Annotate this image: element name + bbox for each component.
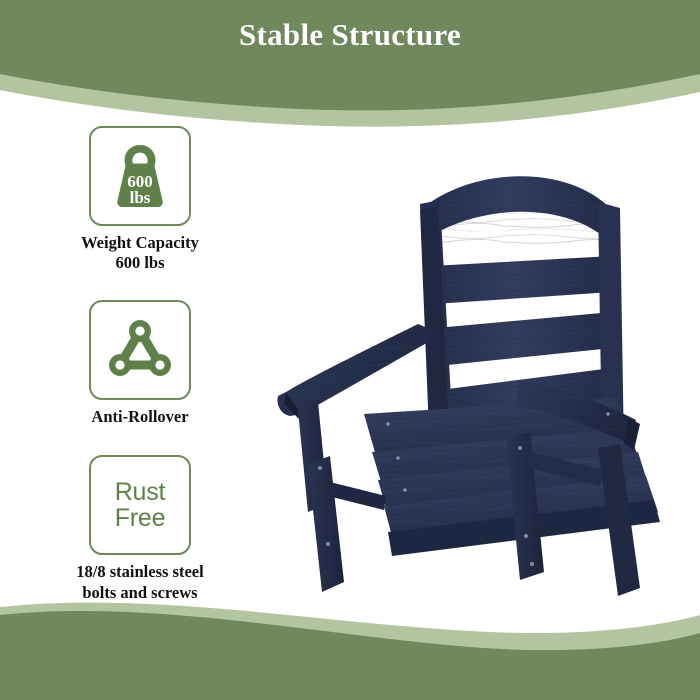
anti-rollover-triangle-icon: [104, 317, 176, 383]
weight-capacity-icon-box: 600 lbs: [89, 126, 191, 226]
feature-caption-weight-capacity: Weight Capacity 600 lbs: [81, 233, 199, 274]
node-right-hole: [155, 360, 164, 369]
weight-icon: 600 lbs: [104, 143, 176, 209]
node-top-hole: [135, 326, 144, 335]
rust-free-icon-box: Rust Free: [89, 455, 191, 555]
feature-item-weight-capacity: 600 lbs Weight Capacity 600 lbs: [18, 126, 262, 274]
feature-caption-anti-rollover: Anti-Rollover: [91, 407, 188, 427]
grain-overlay: [428, 204, 612, 244]
product-image-chair: [268, 152, 678, 622]
caption-line-1: Anti-Rollover: [91, 407, 188, 426]
weight-icon-value-line2: lbs: [130, 188, 151, 207]
rust-free-line-2: Free: [115, 505, 166, 531]
feature-item-anti-rollover: Anti-Rollover: [18, 300, 262, 427]
feature-list: 600 lbs Weight Capacity 600 lbs: [18, 126, 262, 603]
rust-free-line-1: Rust: [115, 479, 166, 505]
caption-line-1: 18/8 stainless steel: [76, 562, 203, 581]
feature-caption-rust-free: 18/8 stainless steel bolts and screws: [76, 562, 203, 603]
caption-line-2: 600 lbs: [81, 253, 199, 273]
chair-illustration: [268, 152, 678, 622]
feature-item-rust-free: Rust Free 18/8 stainless steel bolts and…: [18, 455, 262, 603]
infographic-page: Stable Structure 600 lbs Weight Capacity…: [0, 0, 700, 700]
caption-line-2: bolts and screws: [76, 583, 203, 603]
rust-free-icon: Rust Free: [115, 479, 166, 531]
node-left-hole: [115, 360, 124, 369]
page-title: Stable Structure: [0, 17, 700, 53]
caption-line-1: Weight Capacity: [81, 233, 199, 252]
anti-rollover-icon-box: [89, 300, 191, 400]
